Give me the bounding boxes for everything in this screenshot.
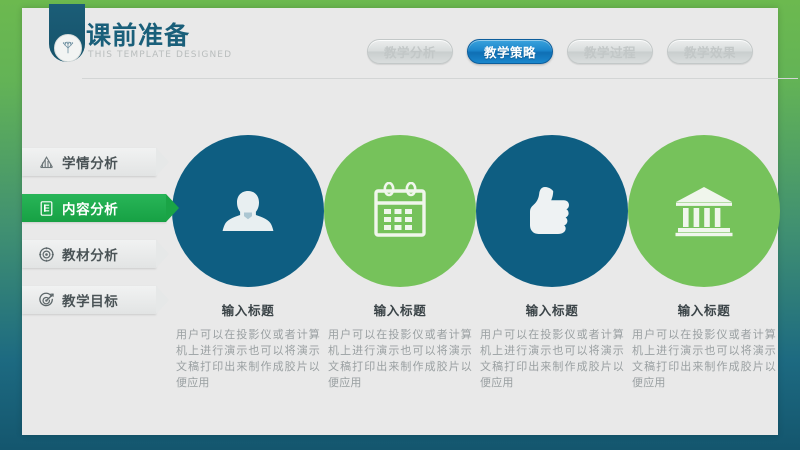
document-icon [38,200,55,217]
sidebar-item-neirong-fenxi[interactable]: 内容分析 [22,194,166,222]
column-1: 输入标题 用户可以在投影仪或者计算机上进行演示也可以将演示文稿打印出来制作成胶片… [172,300,324,391]
sidebar-item-label: 内容分析 [62,198,118,218]
column-body: 用户可以在投影仪或者计算机上进行演示也可以将演示文稿打印出来制作成胶片以便应用 [476,327,628,391]
slide-canvas: 课前准备 THIS TEMPLATE DESIGNED 教学分析 教学策略 教学… [0,0,800,450]
page-subtitle: THIS TEMPLATE DESIGNED [88,50,232,60]
column-3: 输入标题 用户可以在投影仪或者计算机上进行演示也可以将演示文稿打印出来制作成胶片… [476,300,628,391]
circle-item-4[interactable] [628,135,780,287]
bank-building-icon [674,184,734,238]
tab-teaching-process[interactable]: 教学过程 [567,39,653,64]
header-divider [82,78,798,79]
column-4: 输入标题 用户可以在投影仪或者计算机上进行演示也可以将演示文稿打印出来制作成胶片… [628,300,780,391]
circle-item-2[interactable] [324,135,476,287]
sidebar-item-jiaoxue-mubiao[interactable]: 教学目标 [22,286,156,314]
tree-network-icon [60,40,76,56]
sidebar-item-xueqing-fenxi[interactable]: 学情分析 [22,148,156,176]
bar-chart-icon [38,154,55,171]
column-body: 用户可以在投影仪或者计算机上进行演示也可以将演示文稿打印出来制作成胶片以便应用 [172,327,324,391]
column-title: 输入标题 [476,300,628,319]
calendar-icon [372,182,428,240]
top-tab-bar: 教学分析 教学策略 教学过程 教学效果 [367,39,753,64]
column-title: 输入标题 [172,300,324,319]
sidebar-item-jiaocai-fenxi[interactable]: 教材分析 [22,240,156,268]
sidebar-item-label: 教材分析 [62,244,118,264]
column-2: 输入标题 用户可以在投影仪或者计算机上进行演示也可以将演示文稿打印出来制作成胶片… [324,300,476,391]
circle-item-3[interactable] [476,135,628,287]
thumbs-up-icon [523,181,581,241]
column-body: 用户可以在投影仪或者计算机上进行演示也可以将演示文稿打印出来制作成胶片以便应用 [324,327,476,391]
target-icon [38,246,55,263]
column-title: 输入标题 [628,300,780,319]
tab-teaching-effect[interactable]: 教学效果 [667,39,753,64]
slide-page: 课前准备 THIS TEMPLATE DESIGNED 教学分析 教学策略 教学… [22,8,778,435]
page-title: 课前准备 [86,22,190,50]
column-body: 用户可以在投影仪或者计算机上进行演示也可以将演示文稿打印出来制作成胶片以便应用 [628,327,780,391]
tab-teaching-analysis[interactable]: 教学分析 [367,39,453,64]
sidebar-item-label: 教学目标 [62,290,118,310]
logo-badge [54,34,82,62]
sidebar: 学情分析 内容分析 [22,148,166,332]
tab-teaching-strategy[interactable]: 教学策略 [467,39,553,64]
column-title: 输入标题 [324,300,476,319]
dart-target-icon [38,292,55,309]
user-person-icon [218,181,278,241]
circle-item-1[interactable] [172,135,324,287]
sidebar-item-label: 学情分析 [62,152,118,172]
